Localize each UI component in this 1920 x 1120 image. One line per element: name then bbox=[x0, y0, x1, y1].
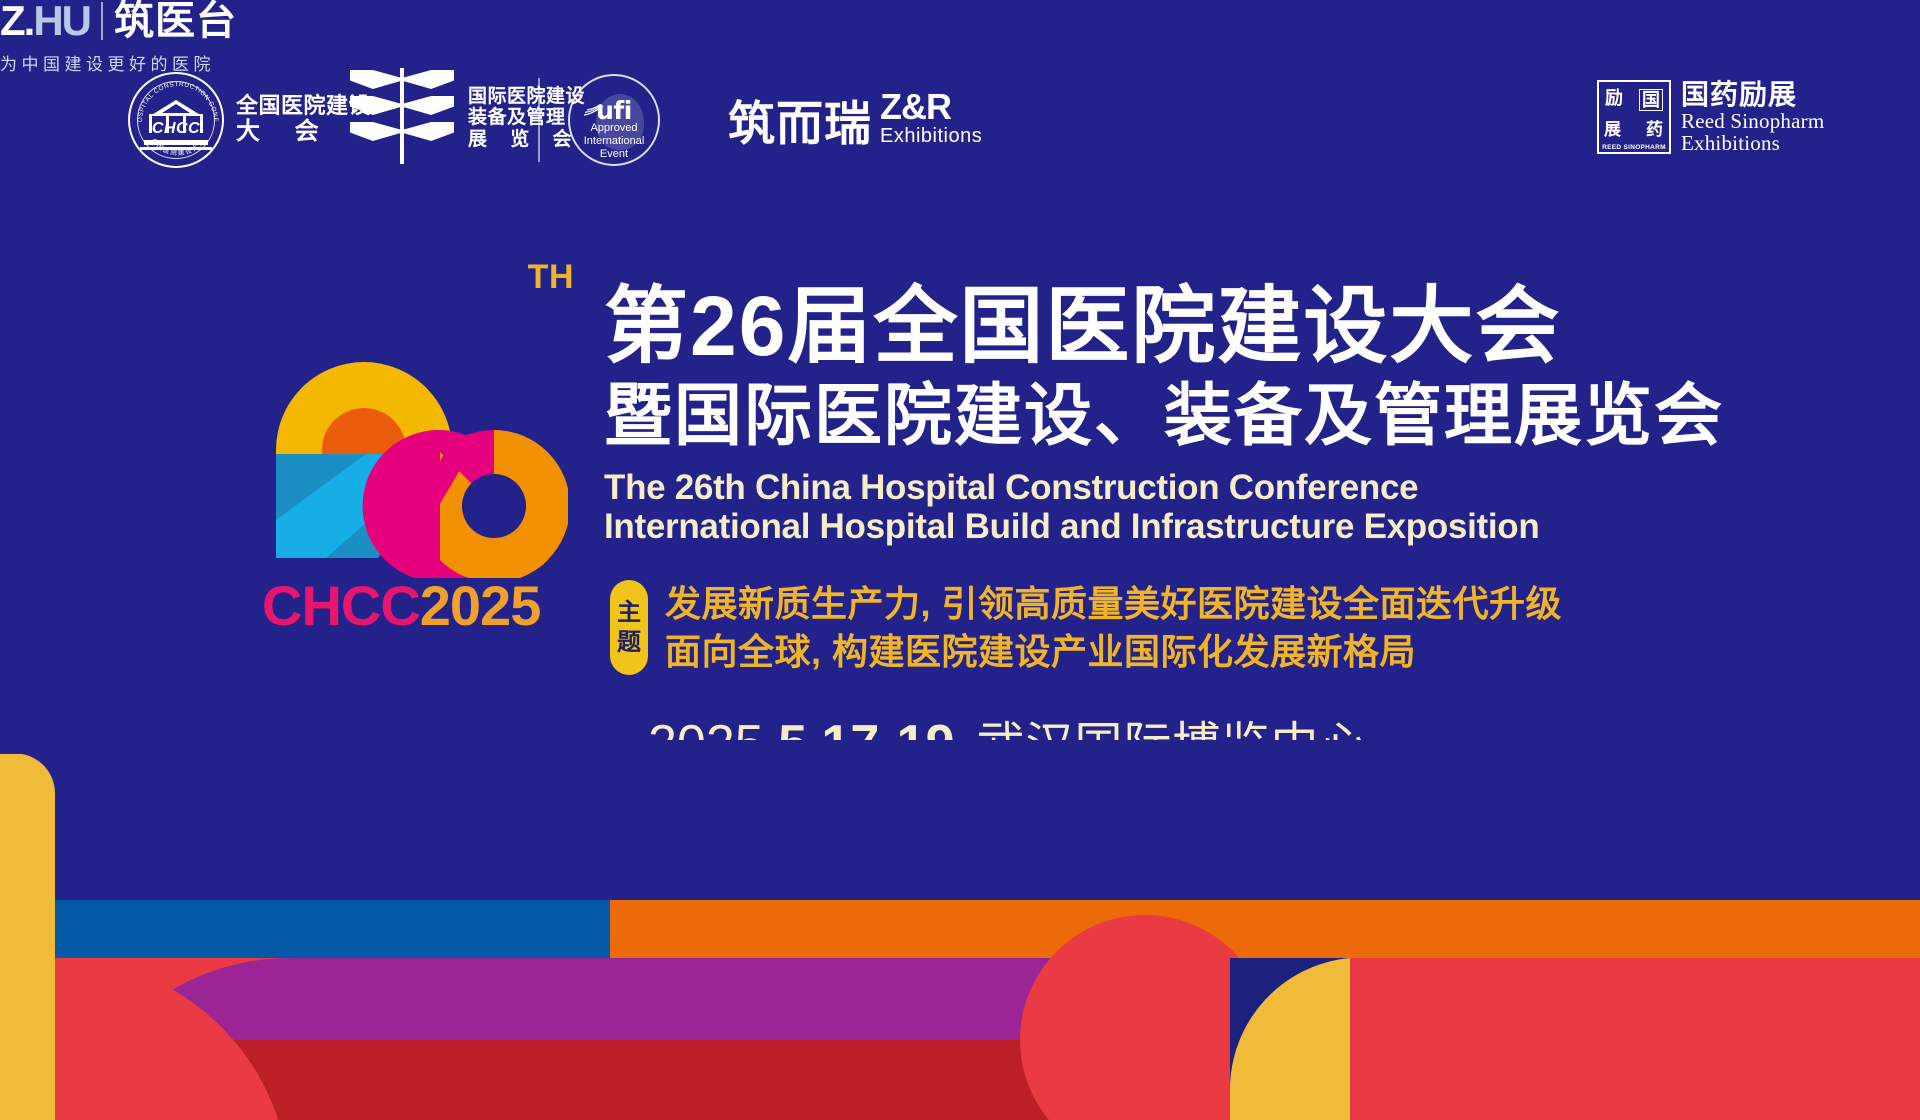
logo-divider bbox=[538, 78, 540, 162]
expo-logo: 国际医院建设 装备及管理 展 览 会 bbox=[350, 68, 585, 168]
chcc-conference-logo: CHINA HOSPITAL CONSTRUCTION CONFERENCE 全… bbox=[128, 72, 371, 168]
theme-badge-char-1: 主 bbox=[617, 598, 641, 627]
edition-suffix: TH bbox=[528, 258, 574, 297]
ufi-approved-event-logo: ufi Approved International Event bbox=[568, 74, 660, 166]
ufi-subtext-line2: International bbox=[570, 135, 658, 148]
chcc-2025-wordmark: CHCC2025 bbox=[262, 578, 540, 634]
reed-seal-char-2: 国 bbox=[1639, 89, 1663, 111]
reed-seal-char-1: 励 bbox=[1605, 89, 1623, 107]
reed-english-line1: Reed Sinopharm bbox=[1681, 110, 1824, 132]
page-title-en-line2: International Hospital Build and Infrast… bbox=[604, 507, 1904, 546]
ufi-roundel-icon: ufi Approved International Event bbox=[568, 74, 660, 166]
ufi-subtext-line1: Approved bbox=[570, 122, 658, 135]
edition-26-logo: TH bbox=[248, 258, 568, 578]
zhu-mark-z: Z. bbox=[0, 0, 33, 42]
chcc-wordmark-letters: CHCC bbox=[262, 574, 420, 637]
reed-chinese-name: 国药励展 bbox=[1681, 80, 1824, 110]
zhu-chinese-name: 筑医台 bbox=[114, 1, 237, 41]
reed-seal-char-4: 药 bbox=[1646, 121, 1663, 138]
reed-english-line2: Exhibitions bbox=[1681, 132, 1824, 154]
page-title: 第26届全国医院建设大会 bbox=[604, 284, 1904, 368]
theme-text: 发展新质生产力, 引领高质量美好医院建设全面迭代升级 面向全球, 构建医院建设产… bbox=[665, 580, 1562, 675]
zhu-wordmark-row: Z. HU 筑医台 bbox=[0, 0, 1920, 42]
zr-chinese-name: 筑而瑞 bbox=[728, 100, 872, 147]
reed-label: 国药励展 Reed Sinopharm Exhibitions bbox=[1681, 80, 1824, 154]
theme-line-1: 发展新质生产力, 引领高质量美好医院建设全面迭代升级 bbox=[665, 580, 1562, 628]
ufi-wordmark: ufi bbox=[570, 96, 658, 125]
ufi-subtext: Approved International Event bbox=[570, 122, 658, 161]
theme-line-2: 面向全球, 构建医院建设产业国际化发展新格局 bbox=[665, 628, 1562, 676]
zhu-separator bbox=[101, 2, 103, 40]
page-title-en-line1: The 26th China Hospital Construction Con… bbox=[604, 468, 1904, 507]
decorative-bottom-bands bbox=[0, 740, 1920, 1120]
reed-seal-char-3: 展 bbox=[1604, 121, 1621, 138]
zhu-media-logo: Z. HU 筑医台 为中国建设更好的医院 bbox=[0, 0, 1920, 75]
reed-seal-footer: REED SINOPHARM bbox=[1599, 144, 1669, 151]
expo-chevron-icon bbox=[350, 68, 454, 168]
zhu-mark-hu: HU bbox=[33, 0, 90, 42]
zr-english-name: Z&R Exhibitions bbox=[880, 88, 982, 147]
edition-26-graphic-icon bbox=[248, 258, 568, 578]
theme-badge-char-2: 题 bbox=[617, 628, 641, 657]
zr-subtitle: Exhibitions bbox=[880, 126, 982, 147]
logo-bar: CHINA HOSPITAL CONSTRUCTION CONFERENCE 全… bbox=[0, 0, 1920, 200]
reed-seal-icon: 励 国 展 药 REED SINOPHARM bbox=[1597, 80, 1671, 154]
zr-abbrev: Z&R bbox=[880, 88, 982, 126]
page-subtitle-cn: 暨国际医院建设、装备及管理展览会 bbox=[604, 382, 1904, 450]
decorative-shapes-icon bbox=[0, 740, 1920, 1120]
ufi-subtext-line3: Event bbox=[570, 148, 658, 161]
zr-exhibitions-logo: 筑而瑞 Z&R Exhibitions bbox=[728, 88, 982, 147]
theme-badge: 主 题 bbox=[610, 580, 648, 675]
chcc-seal-icon: CHINA HOSPITAL CONSTRUCTION CONFERENCE 全… bbox=[128, 72, 224, 168]
title-block: 第26届全国医院建设大会 暨国际医院建设、装备及管理展览会 The 26th C… bbox=[604, 284, 1904, 546]
chcc-wordmark-year: 2025 bbox=[420, 574, 541, 637]
conference-banner: CHINA HOSPITAL CONSTRUCTION CONFERENCE 全… bbox=[0, 0, 1920, 1120]
seal-monogram: CHCC bbox=[152, 120, 200, 138]
reed-sinopharm-logo: 励 国 展 药 REED SINOPHARM 国药励展 Reed Sinopha… bbox=[1597, 80, 1824, 154]
theme-section: 主 题 发展新质生产力, 引领高质量美好医院建设全面迭代升级 面向全球, 构建医… bbox=[610, 580, 1562, 675]
